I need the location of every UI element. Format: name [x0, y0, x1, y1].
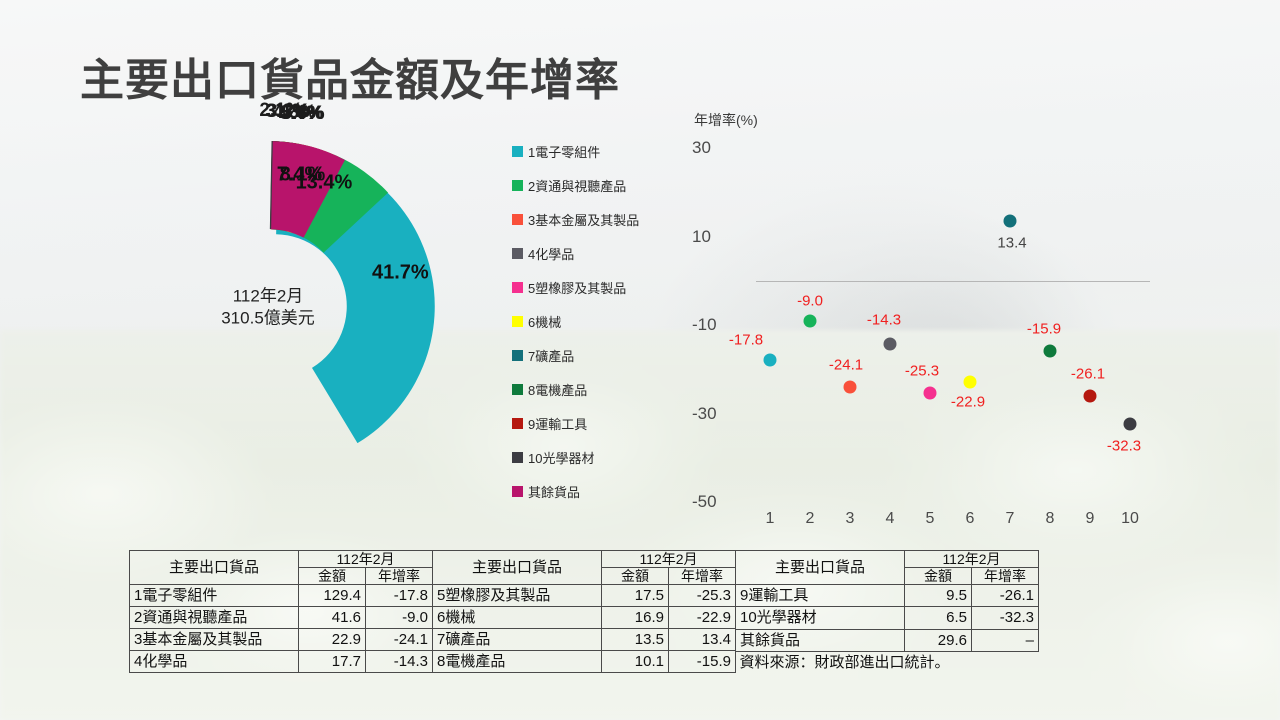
legend-item-label: 2資通與視聽產品	[528, 176, 626, 195]
table-cell-amount: 13.5	[602, 629, 669, 651]
scatter-y-tick-label: 10	[692, 227, 711, 247]
table-header-period: 112年2月	[602, 551, 736, 568]
table-row: 1電子零組件129.4-17.8	[130, 585, 433, 607]
table-row: 其餘貨品29.6–	[736, 629, 1039, 651]
legend-item-label: 10光學器材	[528, 448, 594, 467]
scatter-point-label: -22.9	[951, 394, 985, 411]
scatter-point-label: -15.9	[1027, 321, 1061, 338]
scatter-x-tick-label: 5	[926, 510, 935, 528]
scatter-x-tick-label: 7	[1006, 510, 1015, 528]
table-row: 7礦產品13.513.4	[433, 629, 736, 651]
scatter-y-tick-label: 30	[692, 138, 711, 158]
data-source-note: 資料來源：財政部進出口統計。	[736, 651, 1039, 673]
table-cell-name: 9運輸工具	[736, 585, 905, 607]
legend-color-swatch-icon	[512, 180, 523, 191]
table-header-amount: 金額	[905, 568, 972, 585]
scatter-point-label: -32.3	[1107, 437, 1141, 454]
scatter-data-point	[964, 376, 977, 389]
scatter-point-label: 13.4	[997, 235, 1026, 252]
scatter-point-label: -17.8	[729, 331, 763, 348]
scatter-point-label: -9.0	[797, 292, 823, 309]
table-header-amount: 金額	[602, 568, 669, 585]
legend-item-label: 9運輸工具	[528, 414, 587, 433]
scatter-point-label: -26.1	[1071, 366, 1105, 383]
table-cell-growth: -22.9	[669, 607, 736, 629]
scatter-x-tick-label: 6	[966, 510, 975, 528]
scatter-data-point	[804, 314, 817, 327]
table-cell-name: 6機械	[433, 607, 602, 629]
scatter-data-point	[924, 386, 937, 399]
donut-slice-label: 41.7%	[372, 261, 429, 284]
donut-slice-label: 2.1%	[259, 100, 302, 122]
legend-item[interactable]: 其餘貨品	[512, 474, 682, 508]
table-cell-amount: 129.4	[299, 585, 366, 607]
scatter-data-point	[764, 353, 777, 366]
scatter-data-point	[1124, 417, 1137, 430]
table-source-row: 資料來源：財政部進出口統計。	[736, 651, 1039, 673]
table-cell-name: 4化學品	[130, 651, 299, 673]
legend-item-label: 1電子零組件	[528, 142, 600, 161]
table-header-period: 112年2月	[905, 551, 1039, 568]
export-data-tables: 主要出口貨品112年2月金額年增率1電子零組件129.4-17.82資通與視聽產…	[129, 550, 1039, 673]
export-table: 主要出口貨品112年2月金額年增率9運輸工具9.5-26.110光學器材6.5-…	[735, 550, 1039, 673]
table-cell-name: 5塑橡膠及其製品	[433, 585, 602, 607]
legend-color-swatch-icon	[512, 418, 523, 429]
table-cell-amount: 41.6	[299, 607, 366, 629]
growth-rate-scatter-chart: 年增率(%) 3010-10-30-5012345678910-17.8-9.0…	[688, 110, 1168, 535]
legend-item[interactable]: 1電子零組件	[512, 134, 682, 168]
table-cell-name: 2資通與視聽產品	[130, 607, 299, 629]
scatter-x-tick-label: 4	[886, 510, 895, 528]
table-cell-amount: 17.5	[602, 585, 669, 607]
table-header-amount: 金額	[299, 568, 366, 585]
table-row: 10光學器材6.5-32.3	[736, 607, 1039, 629]
scatter-y-tick-label: -10	[692, 315, 717, 335]
table-cell-growth: -26.1	[972, 585, 1039, 607]
table-cell-growth: -15.9	[669, 651, 736, 673]
scatter-y-tick-label: -50	[692, 492, 717, 512]
table-header-commodity: 主要出口貨品	[130, 551, 299, 585]
table-row: 2資通與視聽產品41.6-9.0	[130, 607, 433, 629]
scatter-x-tick-label: 3	[846, 510, 855, 528]
table-row: 5塑橡膠及其製品17.5-25.3	[433, 585, 736, 607]
table-cell-amount: 17.7	[299, 651, 366, 673]
legend-item[interactable]: 2資通與視聽產品	[512, 168, 682, 202]
table-cell-amount: 6.5	[905, 607, 972, 629]
table-row: 3基本金屬及其製品22.9-24.1	[130, 629, 433, 651]
table-cell-growth: -14.3	[366, 651, 433, 673]
donut-chart: 112年2月 310.5億美元 41.7%13.4%7.4%5.7%5.6%5.…	[58, 108, 478, 508]
table-cell-name: 其餘貨品	[736, 629, 905, 651]
donut-center-period: 112年2月	[221, 286, 315, 308]
legend-item-label: 4化學品	[528, 244, 574, 263]
scatter-x-tick-label: 8	[1046, 510, 1055, 528]
legend-color-swatch-icon	[512, 282, 523, 293]
table-header-growth: 年增率	[669, 568, 736, 585]
scatter-data-point	[1004, 215, 1017, 228]
donut-center-text: 112年2月 310.5億美元	[221, 286, 315, 331]
legend-item[interactable]: 6機械	[512, 304, 682, 338]
table-header-row: 主要出口貨品112年2月	[130, 551, 433, 568]
table-row: 6機械16.9-22.9	[433, 607, 736, 629]
table-header-growth: 年增率	[972, 568, 1039, 585]
table-cell-name: 8電機產品	[433, 651, 602, 673]
scatter-y-tick-label: -30	[692, 404, 717, 424]
scatter-x-tick-label: 1	[766, 510, 775, 528]
scatter-zero-line	[756, 281, 1150, 282]
table-cell-growth: -24.1	[366, 629, 433, 651]
table-cell-name: 3基本金屬及其製品	[130, 629, 299, 651]
table-header-commodity: 主要出口貨品	[433, 551, 602, 585]
legend-item-label: 7礦產品	[528, 346, 574, 365]
scatter-data-point	[844, 381, 857, 394]
legend-item-label: 其餘貨品	[528, 482, 580, 501]
table-cell-amount: 16.9	[602, 607, 669, 629]
scatter-x-tick-label: 2	[806, 510, 815, 528]
legend-item[interactable]: 8電機產品	[512, 372, 682, 406]
scatter-point-label: -14.3	[867, 312, 901, 329]
table-cell-growth: -9.0	[366, 607, 433, 629]
table-cell-amount: 9.5	[905, 585, 972, 607]
legend-color-swatch-icon	[512, 350, 523, 361]
table-row: 8電機產品10.1-15.9	[433, 651, 736, 673]
table-header-growth: 年增率	[366, 568, 433, 585]
legend-item-label: 8電機產品	[528, 380, 587, 399]
scatter-y-axis-label: 年增率(%)	[694, 110, 758, 130]
scatter-point-label: -25.3	[905, 362, 939, 379]
legend-item[interactable]: 3基本金屬及其製品	[512, 202, 682, 236]
legend-color-swatch-icon	[512, 452, 523, 463]
scatter-data-point	[1044, 345, 1057, 358]
table-cell-amount: 22.9	[299, 629, 366, 651]
table-header-period: 112年2月	[299, 551, 433, 568]
scatter-x-tick-label: 9	[1086, 510, 1095, 528]
scatter-x-tick-label: 10	[1121, 510, 1139, 528]
scatter-data-point	[884, 338, 897, 351]
table-cell-growth: -17.8	[366, 585, 433, 607]
legend-color-swatch-icon	[512, 248, 523, 259]
table-header-commodity: 主要出口貨品	[736, 551, 905, 585]
legend-color-swatch-icon	[512, 486, 523, 497]
table-cell-growth: –	[972, 629, 1039, 651]
table-cell-amount: 10.1	[602, 651, 669, 673]
legend-item-label: 3基本金屬及其製品	[528, 210, 639, 229]
donut-slice-label: 8.1%	[280, 164, 326, 187]
table-cell-amount: 29.6	[905, 629, 972, 651]
legend-color-swatch-icon	[512, 146, 523, 157]
legend-item[interactable]: 9運輸工具	[512, 406, 682, 440]
legend-item[interactable]: 10光學器材	[512, 440, 682, 474]
legend-color-swatch-icon	[512, 316, 523, 327]
table-row: 9運輸工具9.5-26.1	[736, 585, 1039, 607]
legend-color-swatch-icon	[512, 384, 523, 395]
scatter-data-point	[1084, 390, 1097, 403]
table-row: 4化學品17.7-14.3	[130, 651, 433, 673]
scatter-point-label: -24.1	[829, 357, 863, 374]
export-table: 主要出口貨品112年2月金額年增率5塑橡膠及其製品17.5-25.36機械16.…	[432, 550, 736, 673]
table-cell-growth: 13.4	[669, 629, 736, 651]
table-cell-name: 1電子零組件	[130, 585, 299, 607]
chart-legend: 1電子零組件2資通與視聽產品3基本金屬及其製品4化學品5塑橡膠及其製品6機械7礦…	[512, 134, 682, 508]
legend-item-label: 6機械	[528, 312, 561, 331]
table-cell-name: 10光學器材	[736, 607, 905, 629]
table-header-row: 主要出口貨品112年2月	[736, 551, 1039, 568]
export-table: 主要出口貨品112年2月金額年增率1電子零組件129.4-17.82資通與視聽產…	[129, 550, 433, 673]
legend-color-swatch-icon	[512, 214, 523, 225]
table-cell-growth: -25.3	[669, 585, 736, 607]
table-cell-growth: -32.3	[972, 607, 1039, 629]
legend-item[interactable]: 4化學品	[512, 236, 682, 270]
donut-center-value: 310.5億美元	[221, 308, 315, 330]
table-header-row: 主要出口貨品112年2月	[433, 551, 736, 568]
legend-item-label: 5塑橡膠及其製品	[528, 278, 626, 297]
table-cell-name: 7礦產品	[433, 629, 602, 651]
legend-item[interactable]: 7礦產品	[512, 338, 682, 372]
page-title: 主要出口貨品金額及年增率	[80, 44, 620, 108]
legend-item[interactable]: 5塑橡膠及其製品	[512, 270, 682, 304]
